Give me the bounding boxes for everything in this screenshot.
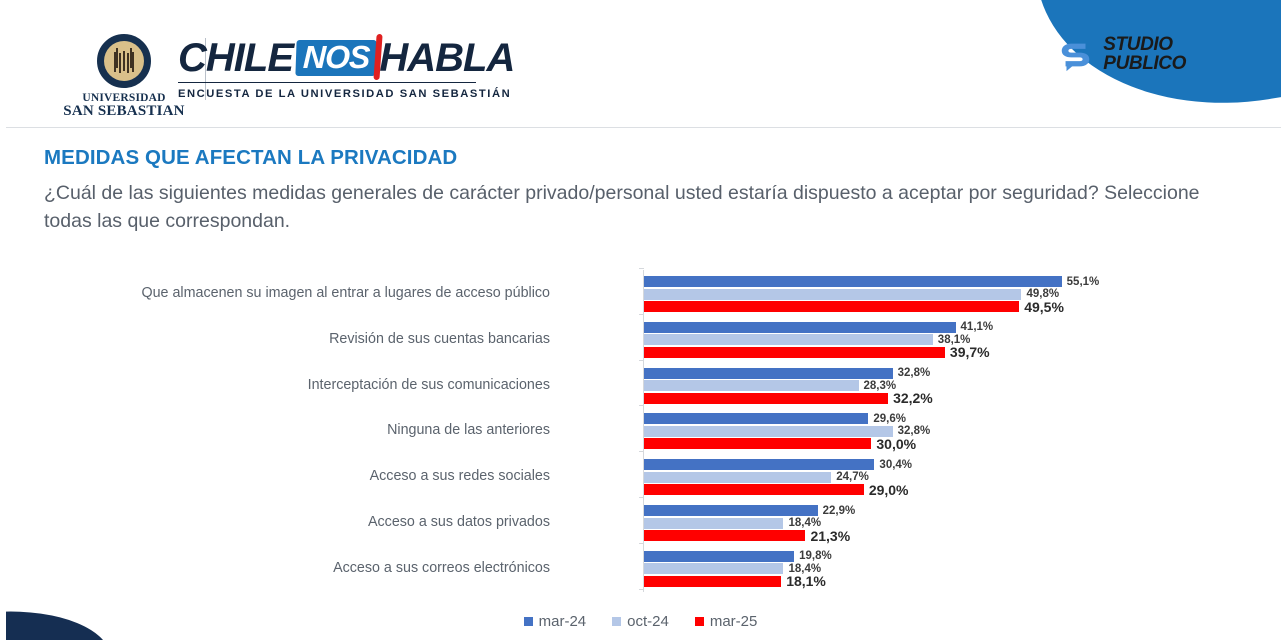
- brand-tagline: ENCUESTA DE LA UNIVERSIDAD SAN SEBASTIÁN: [178, 88, 514, 100]
- bar-row: 49,5%: [644, 301, 1064, 312]
- bar-oct-24[interactable]: [644, 518, 783, 529]
- bar-value-label: 22,9%: [823, 505, 856, 517]
- bar-value-label: 55,1%: [1067, 276, 1100, 288]
- axis-tick: [639, 314, 644, 315]
- bar-mar-25[interactable]: [644, 530, 805, 541]
- page-subtitle: ¿Cuál de las siguientes medidas generale…: [44, 180, 1229, 235]
- bar-mar-25[interactable]: [644, 393, 888, 404]
- bar-value-label: 21,3%: [810, 528, 850, 544]
- bar-row: 49,8%: [644, 289, 1059, 300]
- bar-row: 30,4%: [644, 459, 912, 470]
- bar-row: 32,8%: [644, 368, 930, 379]
- brand-word-nos: NOS: [295, 40, 377, 76]
- axis-tick: [639, 543, 644, 544]
- page-title: MEDIDAS QUE AFECTAN LA PRIVACIDAD: [44, 146, 457, 170]
- bar-row: 19,8%: [644, 551, 832, 562]
- bar-row: 28,3%: [644, 380, 896, 391]
- studio-publico-mark-icon: [1057, 36, 1095, 74]
- studio-publico-logo: STUDIO PUBLICO: [1057, 36, 1186, 74]
- slide-header: UNIVERSIDAD SAN SEBASTIAN CHILENOSHABLA …: [0, 0, 1281, 128]
- bar-row: 30,0%: [644, 438, 916, 449]
- bar-chart: Que almacenen su imagen al entrar a luga…: [0, 262, 1281, 607]
- category-label: Interceptación de sus comunicaciones: [80, 377, 550, 395]
- studio-publico-text: STUDIO PUBLICO: [1103, 36, 1186, 73]
- brand-word-chile: CHILE: [178, 38, 293, 78]
- category-label: Revisión de sus cuentas bancarias: [80, 331, 550, 349]
- axis-tick: [639, 360, 644, 361]
- legend-item-mar-25[interactable]: mar-25: [695, 613, 758, 630]
- legend-swatch-icon: [524, 617, 533, 626]
- category-label: Que almacenen su imagen al entrar a luga…: [80, 285, 550, 303]
- bar-oct-24[interactable]: [644, 380, 859, 391]
- bar-value-label: 32,8%: [898, 367, 931, 379]
- brand-wordmark: CHILENOSHABLA: [178, 38, 514, 78]
- header-bottom-rule: [0, 127, 1281, 128]
- bar-mar-24[interactable]: [644, 368, 893, 379]
- bar-row: 18,1%: [644, 576, 826, 587]
- axis-tick: [639, 268, 644, 269]
- bar-row: 18,4%: [644, 518, 821, 529]
- bar-mar-24[interactable]: [644, 322, 956, 333]
- legend-swatch-icon: [612, 617, 621, 626]
- bar-mar-25[interactable]: [644, 484, 864, 495]
- slide-root: UNIVERSIDAD SAN SEBASTIAN CHILENOSHABLA …: [0, 0, 1281, 640]
- category-label: Ninguna de las anteriores: [80, 422, 550, 440]
- legend-label: mar-25: [710, 613, 758, 630]
- bar-row: 38,1%: [644, 334, 970, 345]
- bar-value-label: 41,1%: [961, 321, 994, 333]
- studio-line2: PUBLICO: [1103, 55, 1186, 74]
- bar-oct-24[interactable]: [644, 472, 831, 483]
- chart-legend: mar-24oct-24mar-25: [0, 613, 1281, 630]
- chart-plot-area: Que almacenen su imagen al entrar a luga…: [643, 270, 1203, 592]
- bar-value-label: 32,2%: [893, 390, 933, 406]
- bar-oct-24[interactable]: [644, 334, 933, 345]
- bar-value-label: 18,1%: [786, 573, 826, 589]
- brand-rule: [178, 82, 476, 83]
- category-label: Acceso a sus redes sociales: [80, 468, 550, 486]
- legend-label: oct-24: [627, 613, 669, 630]
- bar-mar-24[interactable]: [644, 551, 794, 562]
- bar-row: 21,3%: [644, 530, 850, 541]
- left-edge-mask: [0, 0, 6, 640]
- bar-mar-25[interactable]: [644, 576, 781, 587]
- university-name: UNIVERSIDAD SAN SEBASTIAN: [62, 92, 186, 120]
- bar-mar-25[interactable]: [644, 347, 945, 358]
- bar-mar-25[interactable]: [644, 301, 1019, 312]
- bar-row: 29,6%: [644, 413, 906, 424]
- legend-label: mar-24: [539, 613, 587, 630]
- legend-item-oct-24[interactable]: oct-24: [612, 613, 669, 630]
- bar-row: 24,7%: [644, 472, 869, 483]
- bar-value-label: 29,6%: [873, 413, 906, 425]
- bar-row: 32,2%: [644, 393, 933, 404]
- bar-row: 41,1%: [644, 322, 993, 333]
- bar-mar-24[interactable]: [644, 413, 868, 424]
- legend-swatch-icon: [695, 617, 704, 626]
- bar-value-label: 30,4%: [879, 459, 912, 471]
- axis-tick: [639, 451, 644, 452]
- category-label: Acceso a sus datos privados: [80, 514, 550, 532]
- bar-row: 39,7%: [644, 347, 990, 358]
- bar-oct-24[interactable]: [644, 563, 783, 574]
- university-logo: UNIVERSIDAD SAN SEBASTIAN: [62, 34, 186, 120]
- university-seal-icon: [97, 34, 151, 88]
- bar-oct-24[interactable]: [644, 426, 893, 437]
- bar-value-label: 30,0%: [876, 436, 916, 452]
- bar-value-label: 24,7%: [836, 471, 869, 483]
- bar-row: 29,0%: [644, 484, 909, 495]
- bar-oct-24[interactable]: [644, 289, 1021, 300]
- bar-value-label: 28,3%: [864, 380, 897, 392]
- bar-mar-25[interactable]: [644, 438, 871, 449]
- bar-mar-24[interactable]: [644, 276, 1062, 287]
- university-name-line2: SAN SEBASTIAN: [62, 104, 186, 120]
- bar-value-label: 39,7%: [950, 344, 990, 360]
- chile-nos-habla-logo: CHILENOSHABLA ENCUESTA DE LA UNIVERSIDAD…: [178, 38, 514, 100]
- bar-value-label: 29,0%: [869, 482, 909, 498]
- legend-item-mar-24[interactable]: mar-24: [524, 613, 587, 630]
- axis-tick: [639, 497, 644, 498]
- bar-mar-24[interactable]: [644, 505, 818, 516]
- bar-value-label: 19,8%: [799, 550, 832, 562]
- bar-mar-24[interactable]: [644, 459, 874, 470]
- bar-value-label: 49,5%: [1024, 299, 1064, 315]
- axis-tick: [639, 589, 644, 590]
- bar-row: 22,9%: [644, 505, 855, 516]
- bar-row: 55,1%: [644, 276, 1099, 287]
- brand-word-habla: HABLA: [379, 38, 514, 78]
- axis-tick: [639, 405, 644, 406]
- category-label: Acceso a sus correos electrónicos: [80, 560, 550, 578]
